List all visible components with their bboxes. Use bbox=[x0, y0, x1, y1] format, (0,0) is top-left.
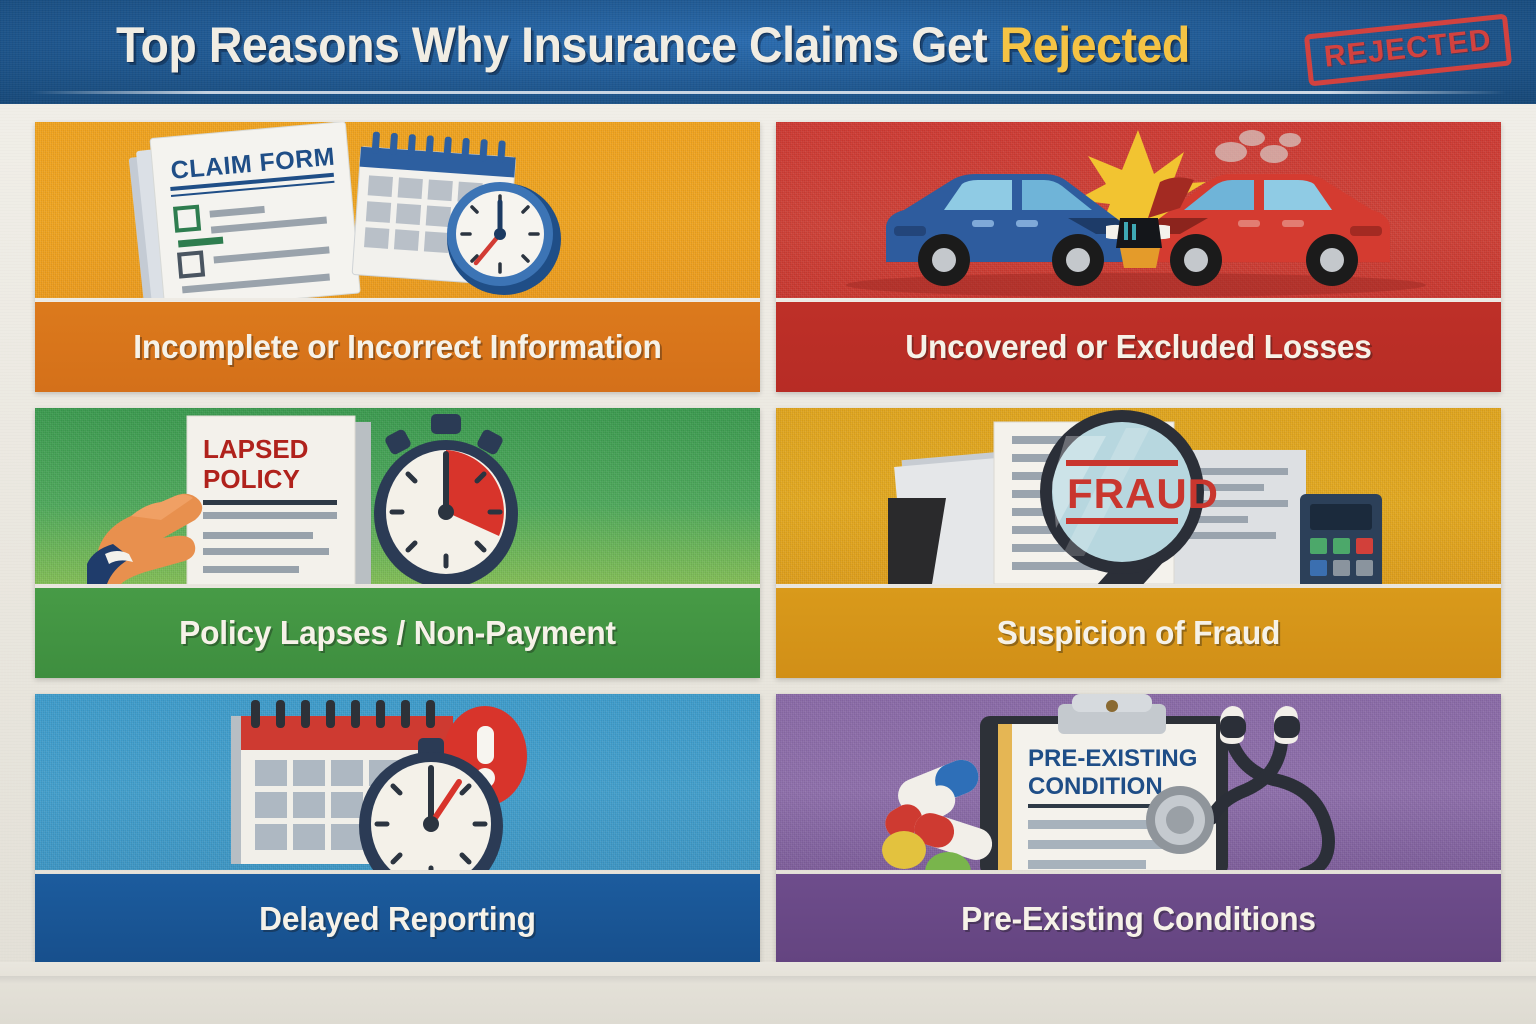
smoke-icon bbox=[1215, 130, 1301, 163]
calculator-icon bbox=[1300, 494, 1382, 584]
panel-label: Delayed Reporting bbox=[50, 874, 746, 964]
stethoscope-icon bbox=[1212, 730, 1329, 870]
artwork-calendar-stopwatch-alert bbox=[35, 694, 760, 870]
car-crash-icon bbox=[776, 122, 1501, 298]
hand-icon bbox=[87, 494, 202, 584]
scene-car-collision bbox=[776, 122, 1501, 298]
scene-hand-holding-lapsed-policy-stopwatch: LAPSED POLICY bbox=[35, 408, 760, 584]
pills-icon bbox=[880, 755, 996, 870]
scene-magnifier-over-fraud-documents: FRAUD bbox=[776, 408, 1501, 584]
panel-label: Pre-Existing Conditions bbox=[791, 874, 1487, 964]
lapsed-policy-icon: LAPSED POLICY bbox=[35, 408, 760, 584]
reasons-grid: CLAIM FORM bbox=[35, 122, 1501, 964]
scene-clipboard-stethoscope-pills: PRE-EXISTING CONDITION bbox=[776, 694, 1501, 870]
page-header: Top Reasons Why Insurance Claims Get Rej… bbox=[0, 0, 1536, 104]
stopwatch-icon bbox=[374, 414, 518, 584]
artwork-magnifier-over-fraud-documents: FRAUD bbox=[776, 408, 1501, 584]
page-footer-strip bbox=[0, 962, 1536, 1024]
clock-icon bbox=[447, 182, 561, 295]
fraud-documents-icon: FRAUD bbox=[776, 408, 1501, 584]
page-title: Top Reasons Why Insurance Claims Get Rej… bbox=[116, 14, 1190, 76]
svg-text:LAPSED: LAPSED bbox=[203, 434, 308, 464]
rejected-stamp: REJECTED bbox=[1304, 13, 1512, 86]
panel-label: Uncovered or Excluded Losses bbox=[791, 302, 1487, 392]
panel-suspicion-of-fraud[interactable]: FRAUD Suspicion of Fraud bbox=[776, 408, 1501, 678]
calendar-alert-icon bbox=[35, 694, 760, 870]
svg-text:FRAUD: FRAUD bbox=[1067, 470, 1219, 517]
panel-label: Suspicion of Fraud bbox=[791, 588, 1487, 678]
panel-label: Policy Lapses / Non-Payment bbox=[50, 588, 746, 678]
header-divider bbox=[30, 91, 1506, 94]
artwork-hand-holding-lapsed-policy-stopwatch: LAPSED POLICY bbox=[35, 408, 760, 584]
svg-text:CONDITION: CONDITION bbox=[1028, 773, 1163, 800]
scene-claim-form-calendar-clock: CLAIM FORM bbox=[35, 122, 760, 298]
stethoscope-earpieces bbox=[1220, 706, 1300, 744]
svg-text:POLICY: POLICY bbox=[203, 464, 300, 494]
stethoscope-chestpiece bbox=[1146, 786, 1214, 854]
red-car-icon bbox=[1144, 174, 1390, 286]
crumple-zone-icon bbox=[1116, 218, 1162, 268]
panel-pre-existing-conditions[interactable]: PRE-EXISTING CONDITION bbox=[776, 694, 1501, 964]
page-title-accent: Rejected bbox=[1000, 17, 1190, 73]
artwork-car-collision bbox=[776, 122, 1501, 298]
page-title-main: Top Reasons Why Insurance Claims Get bbox=[116, 17, 1000, 73]
clipboard-icon: PRE-EXISTING CONDITION bbox=[776, 694, 1501, 870]
panel-uncovered-or-excluded-losses[interactable]: Uncovered or Excluded Losses bbox=[776, 122, 1501, 392]
panel-policy-lapses-non-payment[interactable]: LAPSED POLICY bbox=[35, 408, 760, 678]
artwork-claim-form-calendar-clock: CLAIM FORM bbox=[35, 122, 760, 298]
panel-delayed-reporting[interactable]: Delayed Reporting bbox=[35, 694, 760, 964]
artwork-clipboard-stethoscope-pills: PRE-EXISTING CONDITION bbox=[776, 694, 1501, 870]
scene-calendar-stopwatch-alert bbox=[35, 694, 760, 870]
panel-incomplete-or-incorrect-information[interactable]: CLAIM FORM bbox=[35, 122, 760, 392]
svg-text:PRE-EXISTING: PRE-EXISTING bbox=[1028, 745, 1197, 772]
claim-form-icon: CLAIM FORM bbox=[35, 122, 760, 298]
panel-label: Incomplete or Incorrect Information bbox=[50, 302, 746, 392]
